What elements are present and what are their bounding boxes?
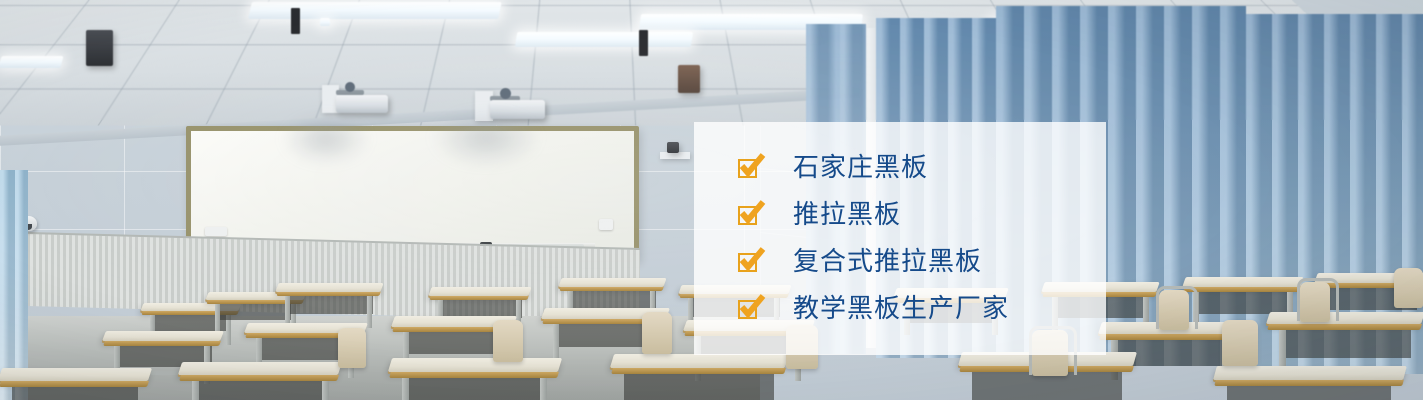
desk-top xyxy=(275,283,383,292)
student-desk xyxy=(180,362,340,400)
desk-top xyxy=(388,358,562,372)
student-desk xyxy=(0,368,150,400)
student-desk xyxy=(1215,366,1405,400)
checkbox-checked-icon xyxy=(738,157,760,179)
student-chair xyxy=(338,328,366,368)
desk-apron xyxy=(285,296,373,314)
projector-lens xyxy=(500,88,511,99)
whiteboard-eraser xyxy=(205,227,227,236)
feature-overlay-panel: 石家庄黑板 推拉黑板 复合式推拉黑板 xyxy=(694,122,1106,355)
wall-speaker xyxy=(678,65,700,93)
desk-leg xyxy=(540,378,547,400)
student-chair xyxy=(642,312,672,354)
feature-label: 复合式推拉黑板 xyxy=(793,249,982,275)
ceiling-lamp xyxy=(0,56,64,68)
desk-top xyxy=(428,287,531,296)
desk-leg xyxy=(367,296,372,328)
wall-shelf xyxy=(660,152,690,159)
feature-item: 推拉黑板 xyxy=(738,192,1106,239)
check-mark-icon xyxy=(737,151,767,181)
board-glare xyxy=(281,113,371,165)
desk-apron xyxy=(403,332,505,354)
window-curtain-left xyxy=(0,170,28,400)
desk-top xyxy=(102,331,224,341)
wall-shelf-device xyxy=(667,142,679,153)
desk-top xyxy=(1266,312,1423,324)
desk-apron xyxy=(624,374,774,400)
checkbox-checked-icon xyxy=(738,298,760,320)
feature-label: 教学黑板生产厂家 xyxy=(793,296,1009,322)
feature-item: 复合式推拉黑板 xyxy=(738,239,1106,286)
ceiling-drop-rod xyxy=(291,8,300,34)
desk-top xyxy=(1213,366,1407,380)
feature-item: 石家庄黑板 xyxy=(738,145,1106,192)
desk-top xyxy=(558,278,666,287)
ceiling-drop-rod xyxy=(639,30,648,56)
desk-apron xyxy=(1227,386,1391,400)
desk-apron xyxy=(12,387,138,400)
desk-leg xyxy=(322,381,329,400)
desk-apron xyxy=(972,372,1122,400)
student-desk xyxy=(1268,312,1423,374)
feature-item: 教学黑板生产厂家 xyxy=(738,286,1106,333)
checkbox-checked-icon xyxy=(738,204,760,226)
check-mark-icon xyxy=(737,198,767,228)
student-desk xyxy=(612,354,787,400)
desk-top xyxy=(1182,277,1303,287)
desk-top xyxy=(0,368,152,381)
desk-top xyxy=(178,362,342,375)
ceiling-lamp xyxy=(248,2,502,19)
check-mark-icon xyxy=(737,292,767,322)
ceiling-lamp xyxy=(320,18,330,26)
student-desk xyxy=(277,283,382,327)
ceiling-lamp xyxy=(515,32,693,47)
student-chair xyxy=(493,320,523,362)
wall-mounted-projector xyxy=(336,95,388,113)
student-chair xyxy=(1222,320,1258,366)
projector-lens xyxy=(345,82,355,92)
student-desk xyxy=(390,358,560,400)
desk-apron xyxy=(402,378,546,400)
desk-top xyxy=(610,354,789,368)
board-glare xyxy=(431,109,541,167)
checkbox-checked-icon xyxy=(738,251,760,273)
student-chair-frame xyxy=(1156,286,1198,329)
whiteboard-marker xyxy=(599,219,613,230)
desk-leg xyxy=(192,381,199,400)
student-chair-frame xyxy=(1297,278,1339,321)
desk-apron xyxy=(192,381,328,400)
feature-label: 石家庄黑板 xyxy=(793,155,928,181)
classroom-banner: 石家庄黑板 推拉黑板 复合式推拉黑板 xyxy=(0,0,1423,400)
student-chair xyxy=(1394,268,1423,308)
desk-leg xyxy=(402,378,409,400)
feature-label: 推拉黑板 xyxy=(793,202,901,228)
desk-leg xyxy=(215,304,220,334)
check-mark-icon xyxy=(737,245,767,275)
wall-speaker xyxy=(86,30,113,66)
desk-apron xyxy=(1193,292,1293,314)
desk-apron xyxy=(568,291,656,309)
desk-apron xyxy=(1279,330,1411,358)
